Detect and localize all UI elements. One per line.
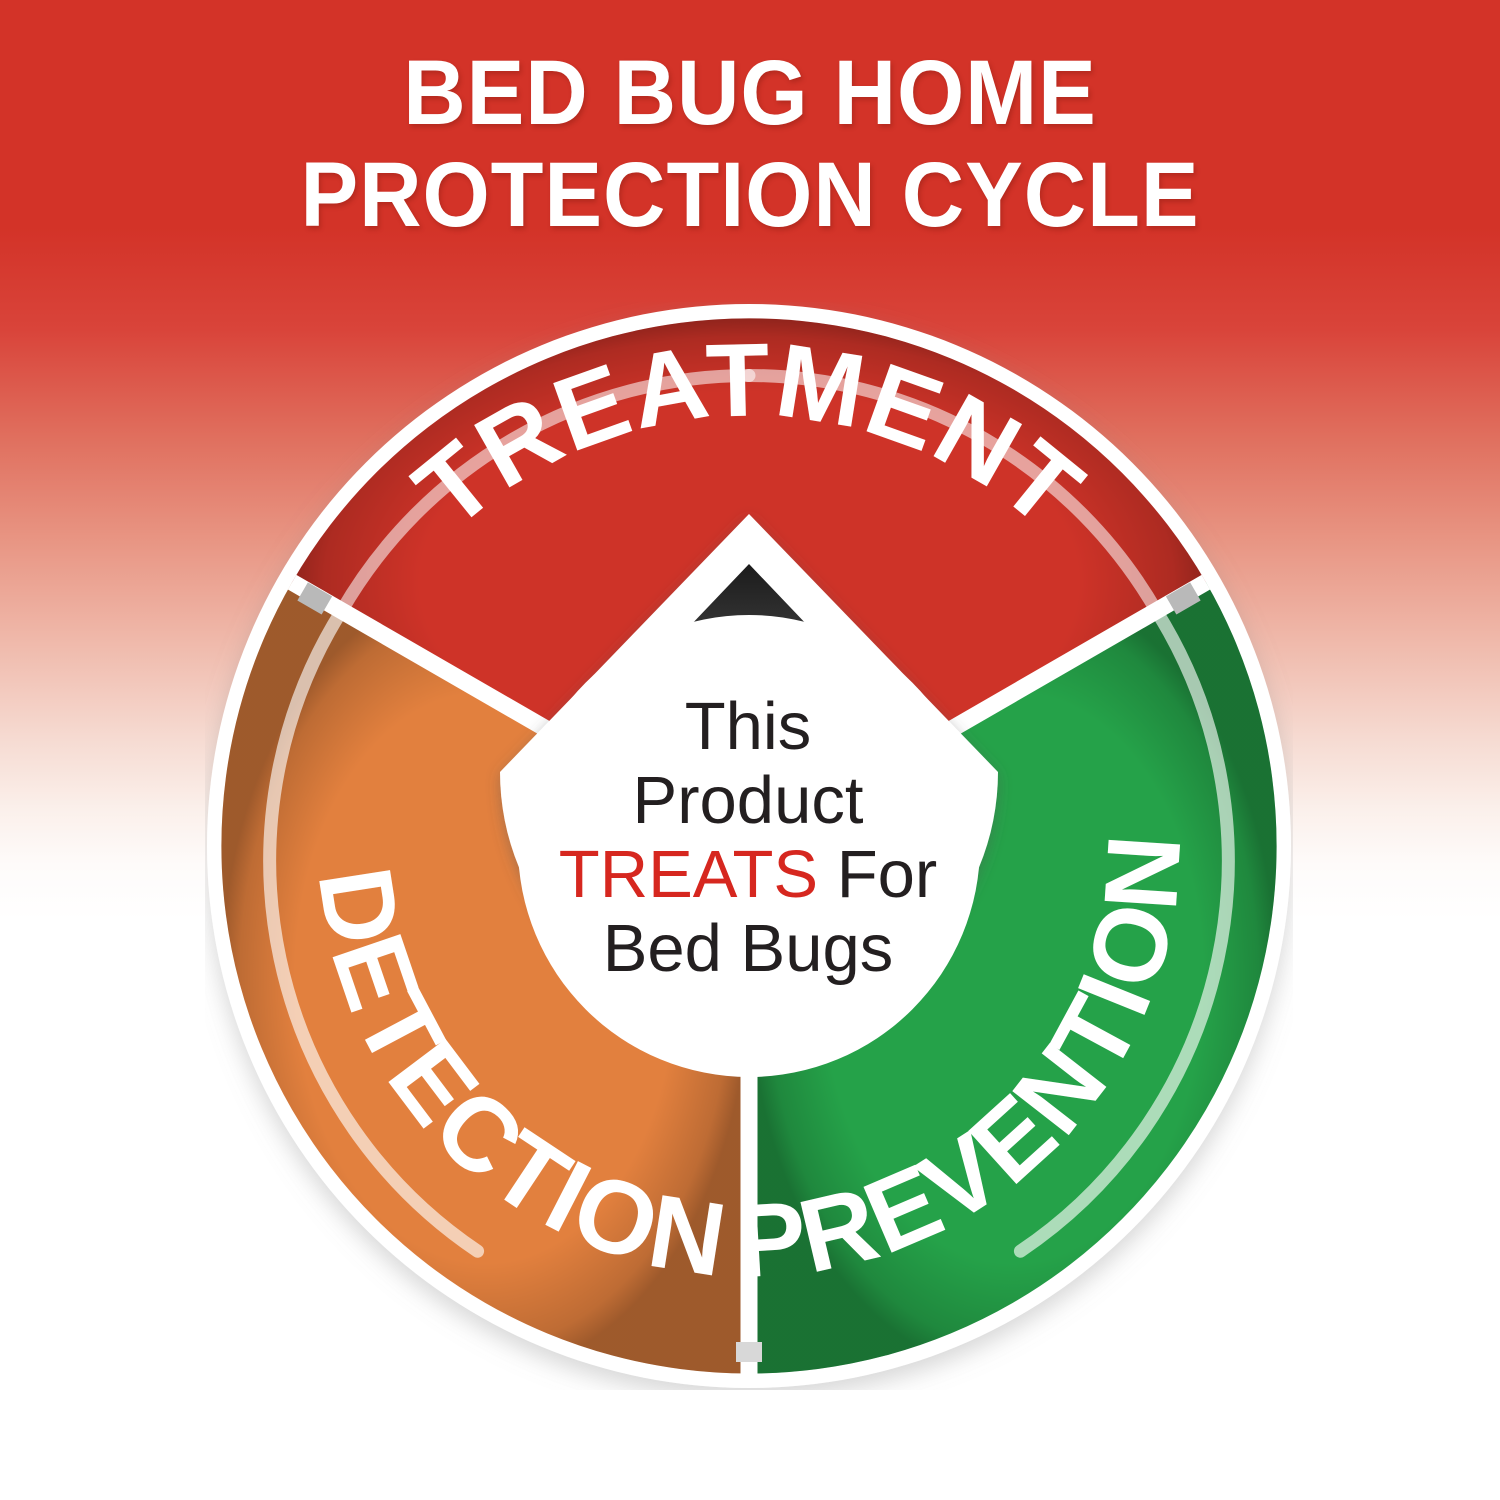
title-line-2: PROTECTION CYCLE — [45, 144, 1455, 246]
page-title: BED BUG HOME PROTECTION CYCLE — [0, 42, 1500, 246]
title-line-1: BED BUG HOME — [45, 42, 1455, 144]
divider-cap-bottom — [736, 1342, 762, 1362]
protection-cycle-wheel: TREATMENT PREVENTION DETECTION — [205, 302, 1293, 1390]
infographic-root: BED BUG HOME PROTECTION CYCLE — [0, 0, 1500, 1500]
hub-core — [518, 615, 980, 1077]
wheel-svg: TREATMENT PREVENTION DETECTION — [205, 302, 1293, 1390]
